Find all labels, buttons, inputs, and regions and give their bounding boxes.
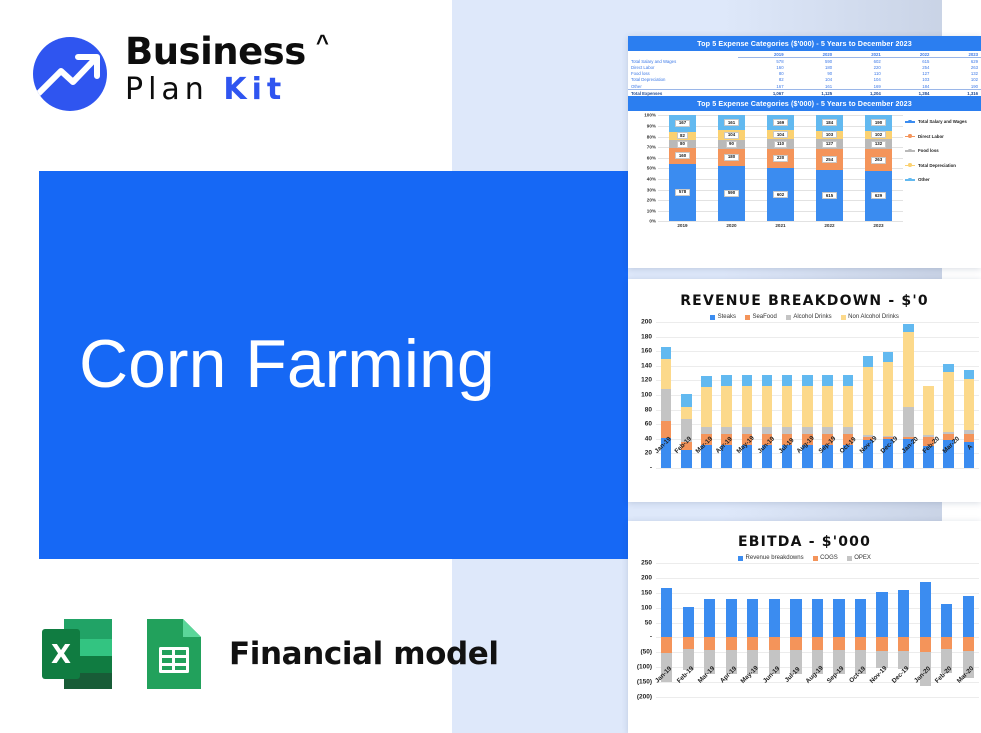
footer-label: Financial model xyxy=(229,636,499,672)
x-tick: 2022 xyxy=(805,223,854,228)
x-tick: 2021 xyxy=(756,223,805,228)
row-label: Total Salary and Wages xyxy=(628,58,738,65)
y-tick: 200 xyxy=(641,319,652,326)
bar-value-label: 102 xyxy=(871,131,885,138)
microsoft-excel-icon: X xyxy=(38,615,116,693)
bar-value-label: 110 xyxy=(774,141,788,148)
bar-segment: 184 xyxy=(816,115,843,130)
bar-segment: 104 xyxy=(767,130,794,139)
bar-segment: 169 xyxy=(767,115,794,130)
row-value: 167 xyxy=(738,83,787,90)
y-tick: (50) xyxy=(640,649,652,656)
x-tick: 2020 xyxy=(707,223,756,228)
bar-segment xyxy=(681,407,691,419)
brand-line1: Business xyxy=(125,30,306,73)
table-row: Other167161169184190 xyxy=(628,83,981,90)
y-tick: 30% xyxy=(647,187,656,192)
gridline xyxy=(656,468,979,469)
bar-segment xyxy=(762,386,772,427)
google-sheets-icon xyxy=(143,615,205,693)
bar-segment: 161 xyxy=(718,115,745,130)
legend-label: Total Salary and Wages xyxy=(918,119,967,124)
row-value: 615 xyxy=(884,58,933,65)
bar-segment: 80 xyxy=(669,140,696,148)
bar-value-label: 161 xyxy=(724,119,738,126)
bar-value-label: 104 xyxy=(724,132,738,139)
expense-table-band-title: Top 5 Expense Categories ($'000) - 5 Yea… xyxy=(628,36,981,51)
expense-stacked-chart: 100%90%80%70%60%50%40%30%20%10%0% 167828… xyxy=(628,111,981,242)
y-tick: 80% xyxy=(647,134,656,139)
table-col-header: 2023 xyxy=(932,51,981,58)
bar-value-label: 167 xyxy=(675,120,689,127)
bar-segment xyxy=(883,352,893,362)
bar-segment: 263 xyxy=(865,149,892,170)
chart-legend: Total Salary and WagesDirect LaborFood l… xyxy=(905,119,979,192)
row-value: 1,125 xyxy=(787,90,836,97)
legend-label: SeaFood xyxy=(752,314,776,320)
bar-value-label: 127 xyxy=(822,141,836,148)
y-tick: (200) xyxy=(637,694,652,701)
bar-segment xyxy=(883,362,893,436)
table-row: Total Salary and Wages578590602615629 xyxy=(628,58,981,65)
bar-segment xyxy=(923,386,933,436)
bar-column: 184103127254615 xyxy=(805,115,854,221)
y-tick: 200 xyxy=(641,574,652,581)
bar-value-label: 80 xyxy=(677,141,689,148)
bar-segment xyxy=(903,332,913,407)
table-col-header: 2021 xyxy=(835,51,884,58)
legend-item: Total Salary and Wages xyxy=(905,119,979,124)
row-label: Other xyxy=(628,83,738,90)
bar-segment xyxy=(802,386,812,427)
y-tick: 250 xyxy=(641,560,652,567)
row-value: 629 xyxy=(932,58,981,65)
y-tick: 120 xyxy=(641,377,652,384)
bar-segment xyxy=(903,324,913,332)
legend-swatch xyxy=(841,315,846,320)
bar-segment xyxy=(661,347,671,359)
bar-value-label: 602 xyxy=(773,191,787,198)
bar-segment xyxy=(762,375,772,386)
legend-item: Steaks xyxy=(710,314,736,320)
legend-label: Revenue breakdowns xyxy=(746,555,804,561)
y-tick: 100% xyxy=(644,113,656,118)
bar-segment xyxy=(802,375,812,386)
bar-segment xyxy=(782,427,792,434)
table-col-header: 2022 xyxy=(884,51,933,58)
bar-value-label: 220 xyxy=(773,155,787,162)
bar-column: 169104110220602 xyxy=(756,115,805,221)
bar-segment: 82 xyxy=(669,132,696,140)
bar-segment xyxy=(742,386,752,427)
y-tick: (100) xyxy=(637,664,652,671)
bar-segment xyxy=(742,375,752,386)
bar-segment xyxy=(681,394,691,406)
bar-segment: 103 xyxy=(816,131,843,140)
legend-item: Alcohol Drinks xyxy=(786,314,832,320)
row-label: Total Expenses xyxy=(628,90,738,97)
bar-segment: 602 xyxy=(767,168,794,221)
legend-label: Food loss xyxy=(918,148,939,153)
legend-swatch xyxy=(905,179,915,181)
y-tick: 100 xyxy=(641,604,652,611)
bar-segment xyxy=(822,375,832,386)
legend-swatch xyxy=(905,121,915,123)
legend-item: Food loss xyxy=(905,148,979,153)
revenue-chart-legend: SteaksSeaFoodAlcohol DrinksNon Alcohol D… xyxy=(628,314,981,320)
bar-segment xyxy=(863,367,873,435)
y-axis-labels: 25020015010050-(50)(100)(150)(200) xyxy=(628,563,654,697)
y-tick: 80 xyxy=(645,406,652,413)
expense-categories-card: Top 5 Expense Categories ($'000) - 5 Yea… xyxy=(628,36,981,268)
bar-value-label: 629 xyxy=(871,192,885,199)
bar-segment: 102 xyxy=(865,131,892,139)
y-tick: 160 xyxy=(641,348,652,355)
bar-segment xyxy=(943,372,953,431)
legend-item: Non Alcohol Drinks xyxy=(841,314,899,320)
y-tick: 60 xyxy=(645,421,652,428)
legend-label: Steaks xyxy=(718,314,736,320)
bar-segment xyxy=(843,427,853,434)
bar-segment xyxy=(903,407,913,436)
legend-label: Other xyxy=(918,177,930,182)
bar-column: 1678280160578 xyxy=(658,115,707,221)
table-col-header xyxy=(628,51,738,58)
legend-item: COGS xyxy=(813,555,838,561)
bar-value-label: 104 xyxy=(773,131,787,138)
bar-segment: 127 xyxy=(816,139,843,149)
revenue-breakdown-card: REVENUE BREAKDOWN - $'0 SteaksSeaFoodAlc… xyxy=(628,279,981,502)
bar-value-label: 254 xyxy=(822,156,836,163)
bar-segment xyxy=(822,427,832,434)
plot-area: 1678280160578161104901805901691041102206… xyxy=(658,115,903,221)
bar-segment xyxy=(863,356,873,367)
bar-segment xyxy=(964,379,974,430)
bar-segment: 90 xyxy=(718,140,745,148)
y-tick: 90% xyxy=(647,123,656,128)
x-axis-labels: 20192020202120222023 xyxy=(658,223,903,228)
bar-segment: 220 xyxy=(767,149,794,168)
page-title: Corn Farming xyxy=(79,325,495,403)
x-tick: 2023 xyxy=(854,223,903,228)
y-tick: 50 xyxy=(645,619,652,626)
bar-value-label: 190 xyxy=(871,119,885,126)
row-value: 578 xyxy=(738,58,787,65)
bar-segment: 160 xyxy=(669,148,696,164)
bar-segment: 132 xyxy=(865,139,892,150)
row-value: 184 xyxy=(884,83,933,90)
row-value: 1,284 xyxy=(884,90,933,97)
y-tick: 60% xyxy=(647,155,656,160)
brand-line2-accent: Kit xyxy=(223,72,286,107)
bar-value-label: 615 xyxy=(822,192,836,199)
y-tick: 180 xyxy=(641,333,652,340)
bar-value-label: 82 xyxy=(677,132,689,139)
legend-swatch xyxy=(905,136,915,138)
bar-segment xyxy=(661,359,671,389)
row-value: 1,067 xyxy=(738,90,787,97)
bar-value-label: 180 xyxy=(724,154,738,161)
growth-arrow-icon xyxy=(33,37,107,111)
bar-column: 190102132263629 xyxy=(854,115,903,221)
bar-value-label: 578 xyxy=(675,189,689,196)
bar-segment: 167 xyxy=(669,115,696,132)
bar-segment xyxy=(843,386,853,428)
expense-table: 20192020202120222023 Total Salary and Wa… xyxy=(628,51,981,96)
row-value: 1,316 xyxy=(932,90,981,97)
bar-value-label: 184 xyxy=(822,119,836,126)
x-axis-labels: Jan-19Feb-19Mar-19Apr-19May-19Jun-19Jul-… xyxy=(656,449,979,456)
row-value: 602 xyxy=(835,58,884,65)
bar-segment: 578 xyxy=(669,164,696,221)
bar-value-label: 90 xyxy=(726,141,738,148)
legend-label: OPEX xyxy=(854,555,871,561)
ebitda-chart-title: EBITDA - $'000 xyxy=(628,521,981,550)
y-tick: 70% xyxy=(647,145,656,150)
y-tick: - xyxy=(650,465,652,472)
x-tick: 2019 xyxy=(658,223,707,228)
row-value: 161 xyxy=(787,83,836,90)
bar-segment: 190 xyxy=(865,115,892,130)
y-tick: 40 xyxy=(645,435,652,442)
ebitda-card: EBITDA - $'000 Revenue breakdownsCOGSOPE… xyxy=(628,521,981,733)
legend-swatch xyxy=(905,150,915,152)
bar-segment xyxy=(843,375,853,386)
legend-swatch xyxy=(745,315,750,320)
table-col-header: 2019 xyxy=(738,51,787,58)
legend-item: Total Depreciation xyxy=(905,163,979,168)
legend-swatch xyxy=(847,556,852,561)
y-axis-labels: 20018016014012010080604020- xyxy=(628,322,654,468)
expense-chart-band-title: Top 5 Expense Categories ($'000) - 5 Yea… xyxy=(628,96,981,111)
ebitda-line-series xyxy=(656,563,979,733)
svg-text:X: X xyxy=(51,640,71,670)
legend-label: Direct Labor xyxy=(918,134,944,139)
legend-item: Other xyxy=(905,177,979,182)
bar-segment: 110 xyxy=(767,139,794,149)
bar-segment: 104 xyxy=(718,130,745,140)
y-tick: 10% xyxy=(647,208,656,213)
row-value: 1,204 xyxy=(835,90,884,97)
legend-label: Non Alcohol Drinks xyxy=(848,314,899,320)
legend-swatch xyxy=(710,315,715,320)
y-tick: 20% xyxy=(647,198,656,203)
y-tick: 20 xyxy=(645,450,652,457)
y-axis-labels: 100%90%80%70%60%50%40%30%20%10%0% xyxy=(632,115,656,221)
bar-segment xyxy=(943,364,953,373)
legend-swatch xyxy=(738,556,743,561)
table-header-row: 20192020202120222023 xyxy=(628,51,981,58)
bar-column: 16110490180590 xyxy=(707,115,756,221)
bar-segment: 590 xyxy=(718,166,745,222)
bar-value-label: 590 xyxy=(724,190,738,197)
bar-segment xyxy=(661,421,671,439)
y-tick: 150 xyxy=(641,589,652,596)
row-value: 190 xyxy=(932,83,981,90)
table-total-row: Total Expenses1,0671,1251,2041,2841,316 xyxy=(628,90,981,97)
bar-segment xyxy=(762,427,772,434)
bar-value-label: 103 xyxy=(822,131,836,138)
table-col-header: 2020 xyxy=(787,51,836,58)
gridline xyxy=(658,221,903,222)
legend-label: Total Depreciation xyxy=(918,163,956,168)
bar-segment xyxy=(701,376,711,387)
legend-label: Alcohol Drinks xyxy=(793,314,831,320)
row-value: 590 xyxy=(787,58,836,65)
legend-item: SeaFood xyxy=(745,314,777,320)
bar-segment: 629 xyxy=(865,171,892,222)
slide-canvas: Business ^ Plan Kit Corn Farming X xyxy=(0,0,981,733)
bar-segment: 254 xyxy=(816,149,843,170)
bar-segment xyxy=(964,370,974,379)
bar-segment xyxy=(721,375,731,386)
bar-segment xyxy=(802,427,812,434)
ebitda-chart-legend: Revenue breakdownsCOGSOPEX xyxy=(628,555,981,561)
brand-line2-plain: Plan xyxy=(125,72,209,107)
legend-item: Direct Labor xyxy=(905,134,979,139)
y-tick: 100 xyxy=(641,392,652,399)
bar-segment xyxy=(661,389,671,420)
bar-segment: 180 xyxy=(718,149,745,166)
y-tick: 140 xyxy=(641,362,652,369)
row-value: 169 xyxy=(835,83,884,90)
bar-segment xyxy=(782,375,792,386)
legend-item: Revenue breakdowns xyxy=(738,555,804,561)
bar-segment xyxy=(701,387,711,427)
y-tick: 50% xyxy=(647,166,656,171)
bar-segment: 615 xyxy=(816,170,843,221)
legend-swatch xyxy=(905,165,915,167)
legend-label: COGS xyxy=(820,555,838,561)
bar-value-label: 169 xyxy=(773,119,787,126)
brand-circumflex: ^ xyxy=(316,30,329,56)
y-tick: (150) xyxy=(637,679,652,686)
brand-logo: Business ^ Plan Kit xyxy=(33,36,333,118)
y-tick: - xyxy=(650,634,652,641)
brand-line2: Plan Kit xyxy=(125,72,306,108)
x-axis-labels: Jan-19Feb-19Mar-19Apr-19May-19Jun-19Jul-… xyxy=(656,679,979,686)
bar-stack xyxy=(681,394,691,468)
revenue-chart-title: REVENUE BREAKDOWN - $'0 xyxy=(628,279,981,309)
bar-value-label: 132 xyxy=(871,141,885,148)
bar-segment xyxy=(701,427,711,434)
legend-swatch xyxy=(813,556,818,561)
footer-row: X Financial model xyxy=(38,613,499,695)
legend-item: OPEX xyxy=(847,555,871,561)
bar-segment xyxy=(782,386,792,427)
legend-swatch xyxy=(786,315,791,320)
bar-value-label: 263 xyxy=(871,157,885,164)
bar-segment xyxy=(822,386,832,427)
y-tick: 40% xyxy=(647,176,656,181)
bar-value-label: 160 xyxy=(675,152,689,159)
y-tick: 0% xyxy=(649,219,656,224)
bar-segment xyxy=(721,386,731,427)
bar-segment xyxy=(721,427,731,434)
